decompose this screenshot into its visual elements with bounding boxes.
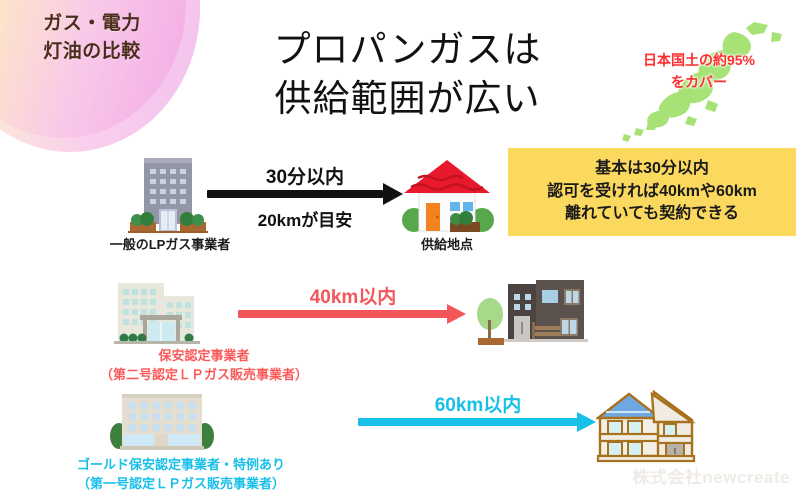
house-blue-roof-icon <box>596 388 696 470</box>
arrow-3 <box>358 418 596 426</box>
caption-source-3-line-1: ゴールド保安認定事業者・特例あり <box>24 456 338 475</box>
comparison-row-3: 60km以内 ゴールド保安認定事業者・特例あり （第一号認 <box>0 0 800 500</box>
infographic-canvas: ガス・電力 灯油の比較 プロパンガスは 供給範囲が広い <box>0 0 800 500</box>
arrow-label-3: 60km以内 <box>358 390 598 417</box>
office-building-beige-icon <box>106 388 218 458</box>
watermark: 株式会社newcreate <box>632 463 790 488</box>
caption-source-3: ゴールド保安認定事業者・特例あり （第一号認定ＬＰガス販売事業者） <box>24 456 338 494</box>
caption-source-3-line-2: （第一号認定ＬＰガス販売事業者） <box>24 475 338 494</box>
arrow-block-3: 60km以内 <box>358 390 598 440</box>
